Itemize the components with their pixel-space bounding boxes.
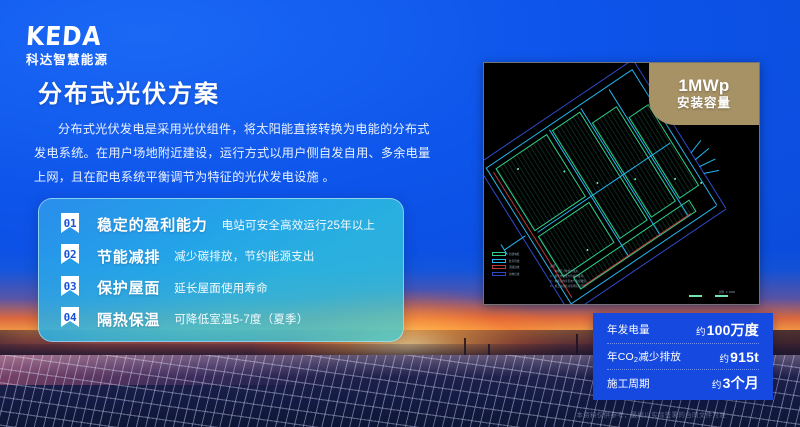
feature-desc: 电站可安全高效运行25年以上 bbox=[222, 217, 376, 233]
slide-root: KEDA 科达智慧能源 分布式光伏方案 分布式光伏发电是采用光伏组件，将太阳能直… bbox=[0, 0, 800, 427]
feature-number: 02 bbox=[64, 248, 77, 261]
stat-label: 年CO2减少排放 bbox=[607, 349, 681, 364]
cad-scale-bar bbox=[689, 295, 741, 297]
stat-approx: 约 bbox=[696, 327, 706, 338]
feature-desc: 延长屋面使用寿命 bbox=[174, 280, 268, 296]
stat-label-sub: 2 bbox=[634, 355, 638, 364]
stat-row-annual-generation: 年发电量 约100万度 bbox=[607, 317, 759, 344]
stat-number: 100万度 bbox=[707, 322, 759, 338]
feature-title: 稳定的盈利能力 bbox=[97, 214, 208, 235]
cad-legend-label: 用地红线 bbox=[509, 272, 519, 276]
stat-row-co2-reduction: 年CO2减少排放 约915t bbox=[607, 344, 759, 371]
stat-label-post: 减少排放 bbox=[638, 351, 681, 363]
feature-list-panel: 01 稳定的盈利能力 电站可安全高效运行25年以上 02 节能减排 减少碳排放，… bbox=[38, 198, 404, 342]
stat-label: 年发电量 bbox=[607, 322, 650, 337]
feature-item-04: 04 隔热保温 可降低室温5-7度（夏季） bbox=[39, 304, 403, 334]
cad-note-line: 4. 施工前须核对现场实际尺寸。 bbox=[550, 285, 588, 290]
feature-number: 03 bbox=[64, 280, 77, 293]
ribbon-badge-icon: 03 bbox=[57, 275, 83, 301]
stat-label: 施工周期 bbox=[607, 376, 650, 391]
page-title: 分布式光伏方案 bbox=[38, 74, 220, 109]
ribbon-badge-icon: 02 bbox=[57, 243, 83, 269]
brand-logo-name: 科达智慧能源 bbox=[26, 54, 108, 67]
stat-approx: 约 bbox=[719, 354, 729, 365]
capacity-value: 1MWp bbox=[678, 77, 729, 96]
feature-title: 节能减排 bbox=[97, 246, 160, 267]
stat-value: 约100万度 bbox=[696, 320, 759, 340]
cad-legend: 新建电缆 既有管线 道路边线 用地红线 bbox=[492, 252, 538, 278]
cad-legend-label: 道路边线 bbox=[509, 265, 519, 269]
stat-approx: 约 bbox=[712, 380, 722, 391]
feature-title: 隔热保温 bbox=[97, 309, 160, 330]
feature-item-01: 01 稳定的盈利能力 电站可安全高效运行25年以上 bbox=[39, 210, 403, 240]
brand-logo: KEDA 科达智慧能源 bbox=[26, 24, 108, 67]
feature-desc: 可降低室温5-7度（夏季） bbox=[174, 311, 308, 327]
feature-number: 01 bbox=[64, 217, 77, 230]
intro-paragraph: 分布式光伏发电是采用光伏组件，将太阳能直接转换为电能的分布式发电系统。在用户场地… bbox=[34, 118, 438, 189]
cad-site-plan-image: 新建电缆 既有管线 道路边线 用地红线 说明： 1. 本图尺寸单位为毫米。 2.… bbox=[483, 62, 760, 305]
cad-scale-label: 比例 1:1000 bbox=[719, 290, 735, 294]
feature-item-02: 02 节能减排 减少碳排放，节约能源支出 bbox=[39, 241, 403, 271]
stats-panel: 年发电量 约100万度 年CO2减少排放 约915t 施工周期 约3个月 bbox=[593, 313, 773, 400]
feature-number: 04 bbox=[64, 311, 77, 324]
cad-legend-label: 既有管线 bbox=[509, 259, 519, 263]
brand-logo-mark: KEDA bbox=[25, 24, 109, 50]
footer-disclaimer: 本资料仅供参考，最终以实际签署的合同文件为准 bbox=[576, 409, 726, 419]
stat-row-construction-period: 施工周期 约3个月 bbox=[607, 370, 759, 396]
feature-desc: 减少碳排放，节约能源支出 bbox=[174, 248, 314, 264]
capacity-badge: 1MWp 安装容量 bbox=[649, 63, 759, 125]
cad-notes: 说明： 1. 本图尺寸单位为毫米。 2. 组件布置按方阵编号排列。 3. 电缆走… bbox=[550, 265, 588, 290]
stat-value: 约915t bbox=[719, 349, 759, 365]
ribbon-badge-icon: 04 bbox=[57, 306, 83, 332]
cad-legend-label: 新建电缆 bbox=[509, 252, 519, 256]
stat-number: 3个月 bbox=[723, 375, 759, 391]
capacity-label: 安装容量 bbox=[677, 95, 731, 111]
feature-item-03: 03 保护屋面 延长屋面使用寿命 bbox=[39, 273, 403, 303]
feature-title: 保护屋面 bbox=[97, 277, 160, 298]
stat-number: 915t bbox=[730, 349, 759, 365]
stat-value: 约3个月 bbox=[712, 373, 759, 393]
stat-label-pre: 年CO bbox=[607, 351, 634, 363]
ribbon-badge-icon: 01 bbox=[57, 212, 83, 238]
